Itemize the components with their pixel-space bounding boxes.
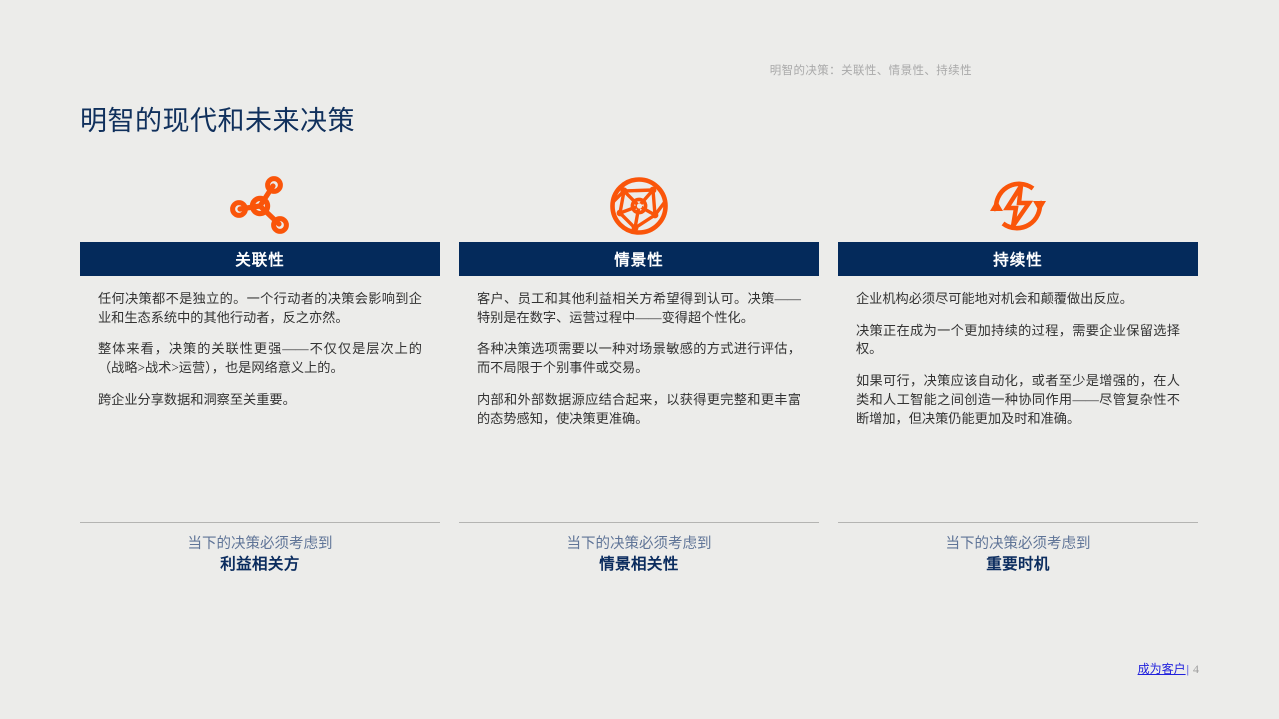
page-number: 4 xyxy=(1193,662,1199,676)
footer-headline: 利益相关方 xyxy=(80,555,440,576)
column-heading-continuous: 持续性 xyxy=(838,242,1198,276)
become-client-link[interactable]: 成为客户 xyxy=(1138,662,1186,676)
paragraph: 跨企业分享数据和洞察至关重要。 xyxy=(98,391,422,410)
footer-separator: | xyxy=(1187,662,1189,676)
running-head: 明智的决策：关联性、情景性、持续性 xyxy=(0,62,972,78)
columns-container: 关联性 任何决策都不是独立的。一个行动者的决策会影响到企业和生态系统中的其他行动… xyxy=(80,170,1199,575)
column-body-contextual: 客户、员工和其他利益相关方希望得到认可。决策——特别是在数字、运营过程中——变得… xyxy=(459,276,819,522)
column-continuous: 持续性 企业机构必须尽可能地对机会和颠覆做出反应。 决策正在成为一个更加持续的过… xyxy=(838,170,1198,575)
network-nodes-icon xyxy=(80,170,440,242)
column-body-continuous: 企业机构必须尽可能地对机会和颠覆做出反应。 决策正在成为一个更加持续的过程，需要… xyxy=(838,276,1198,522)
column-connected: 关联性 任何决策都不是独立的。一个行动者的决策会影响到企业和生态系统中的其他行动… xyxy=(80,170,440,575)
paragraph: 各种决策选项需要以一种对场景敏感的方式进行评估，而不局限于个别事件或交易。 xyxy=(477,340,801,377)
globe-network-icon xyxy=(459,170,819,242)
footer-kicker: 当下的决策必须考虑到 xyxy=(459,535,819,555)
column-footer-contextual: 当下的决策必须考虑到 情景相关性 xyxy=(459,522,819,575)
paragraph: 客户、员工和其他利益相关方希望得到认可。决策——特别是在数字、运营过程中——变得… xyxy=(477,290,801,327)
column-heading-contextual: 情景性 xyxy=(459,242,819,276)
column-footer-continuous: 当下的决策必须考虑到 重要时机 xyxy=(838,522,1198,575)
paragraph: 决策正在成为一个更加持续的过程，需要企业保留选择权。 xyxy=(856,322,1180,359)
column-footer-connected: 当下的决策必须考虑到 利益相关方 xyxy=(80,522,440,575)
page-title: 明智的现代和未来决策 xyxy=(80,99,355,138)
paragraph: 如果可行，决策应该自动化，或者至少是增强的，在人类和人工智能之间创造一种协同作用… xyxy=(856,372,1180,428)
column-contextual: 情景性 客户、员工和其他利益相关方希望得到认可。决策——特别是在数字、运营过程中… xyxy=(459,170,819,575)
footer-headline: 重要时机 xyxy=(838,555,1198,576)
page-footer: 成为客户| 4 xyxy=(1138,660,1199,677)
paragraph: 任何决策都不是独立的。一个行动者的决策会影响到企业和生态系统中的其他行动者，反之… xyxy=(98,290,422,327)
paragraph: 整体来看，决策的关联性更强——不仅仅是层次上的（战略>战术>运营），也是网络意义… xyxy=(98,340,422,377)
paragraph: 内部和外部数据源应结合起来，以获得更完整和更丰富的态势感知，使决策更准确。 xyxy=(477,391,801,428)
paragraph: 企业机构必须尽可能地对机会和颠覆做出反应。 xyxy=(856,290,1180,309)
refresh-lightning-icon xyxy=(838,170,1198,242)
footer-kicker: 当下的决策必须考虑到 xyxy=(838,535,1198,555)
footer-kicker: 当下的决策必须考虑到 xyxy=(80,535,440,555)
footer-headline: 情景相关性 xyxy=(459,555,819,576)
column-body-connected: 任何决策都不是独立的。一个行动者的决策会影响到企业和生态系统中的其他行动者，反之… xyxy=(80,276,440,522)
column-heading-connected: 关联性 xyxy=(80,242,440,276)
